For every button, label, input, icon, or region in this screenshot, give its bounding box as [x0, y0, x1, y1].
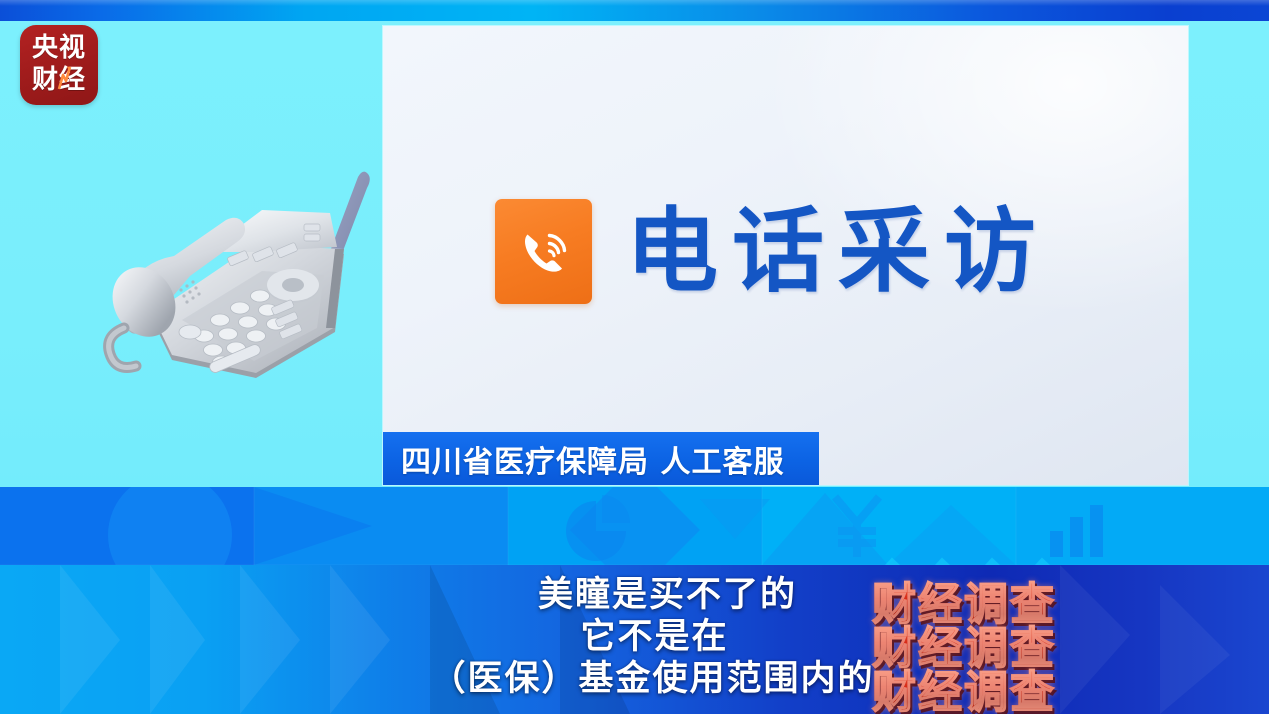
- cctv-finance-logo: 央视 财经: [20, 25, 98, 105]
- source-banner: 四川省医疗保障局 人工客服: [383, 432, 819, 485]
- broadcast-frame: 电话采访 四川省医疗保障局 人工客服 央视 财经: [0, 0, 1269, 714]
- desk-telephone-illustration: [86, 142, 386, 404]
- phone-call-icon: [495, 199, 592, 304]
- top-gradient-bar: [0, 0, 1269, 21]
- source-banner-label: 四川省医疗保障局 人工客服: [383, 437, 784, 481]
- headline-row: 电话采访: [495, 199, 1050, 304]
- logo-line-2: 财经: [20, 65, 98, 95]
- page-title: 电话采访: [626, 206, 1050, 298]
- interview-card: 电话采访: [383, 26, 1188, 485]
- subtitle-band: [0, 565, 1269, 714]
- logo-line-1: 央视: [20, 33, 98, 63]
